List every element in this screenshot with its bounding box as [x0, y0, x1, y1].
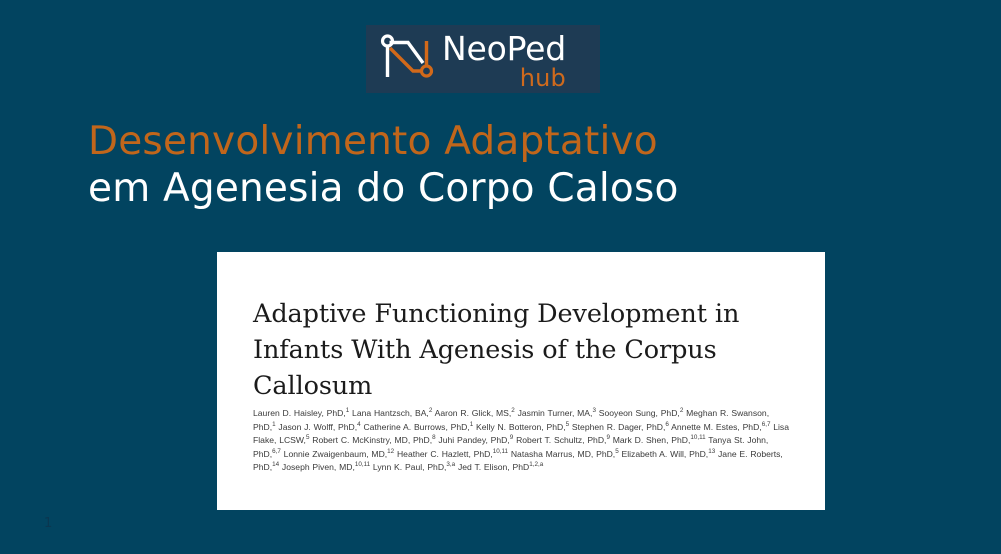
logo-word-hub: hub — [442, 67, 566, 89]
paper-preview-card: Adaptive Functioning Development in Infa… — [217, 252, 825, 510]
paper-title: Adaptive Functioning Development in Infa… — [253, 296, 793, 404]
slide-headline: Desenvolvimento Adaptativo em Agenesia d… — [88, 118, 908, 212]
slide-number: 1 — [44, 516, 52, 531]
logo-wordmark: NeoPed hub — [442, 33, 566, 85]
logo-word-neoped: NeoPed — [442, 33, 566, 65]
headline-line-2: em Agenesia do Corpo Caloso — [88, 165, 908, 212]
headline-line-1: Desenvolvimento Adaptativo — [88, 118, 908, 165]
neoped-node-graph-icon — [378, 33, 436, 85]
paper-author-list: Lauren D. Haisley, PhD,1 Lana Hantzsch, … — [253, 407, 789, 475]
neoped-hub-logo: NeoPed hub — [366, 25, 600, 93]
